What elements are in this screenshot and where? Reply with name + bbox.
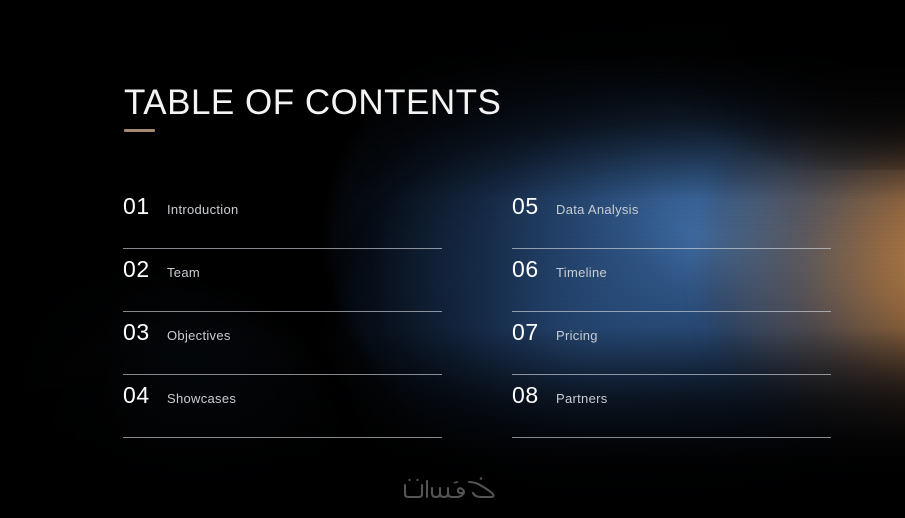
toc-entry-07[interactable]: 07 Pricing xyxy=(512,312,832,375)
toc-number: 02 xyxy=(123,256,163,283)
toc-column-right: 05 Data Analysis 06 Timeline 07 Pric xyxy=(512,186,832,438)
toc-number: 01 xyxy=(123,193,163,220)
toc-label: Showcases xyxy=(167,391,236,406)
toc-number: 05 xyxy=(512,193,552,220)
toc-label: Partners xyxy=(556,391,608,406)
toc-separator xyxy=(123,437,442,438)
toc-number: 03 xyxy=(123,319,163,346)
toc-label: Pricing xyxy=(556,328,598,343)
khamsat-logo-icon xyxy=(397,471,509,505)
toc-number: 06 xyxy=(512,256,552,283)
toc-entry-06[interactable]: 06 Timeline xyxy=(512,249,832,312)
page-title: TABLE OF CONTENTS xyxy=(124,81,501,125)
toc-number: 04 xyxy=(123,382,163,409)
toc-entry-05[interactable]: 05 Data Analysis xyxy=(512,186,832,249)
toc-entry-02[interactable]: 02 Team xyxy=(123,249,443,312)
toc-number: 07 xyxy=(512,319,552,346)
toc-entry-03[interactable]: 03 Objectives xyxy=(123,312,443,375)
presentation-slide: TABLE OF CONTENTS 01 Introduction 02 Tea… xyxy=(0,0,905,518)
watermark xyxy=(0,471,905,510)
toc-number: 08 xyxy=(512,382,552,409)
toc-entry-01[interactable]: 01 Introduction xyxy=(123,186,443,249)
toc-label: Introduction xyxy=(167,202,239,217)
toc-column-left: 01 Introduction 02 Team 03 Objective xyxy=(123,186,443,438)
toc-separator xyxy=(512,437,831,438)
toc-entry-08[interactable]: 08 Partners xyxy=(512,375,832,438)
toc-label: Data Analysis xyxy=(556,202,639,217)
toc-label: Objectives xyxy=(167,328,231,343)
toc-entry-04[interactable]: 04 Showcases xyxy=(123,375,443,438)
title-accent-bar xyxy=(124,129,155,132)
toc-label: Team xyxy=(167,265,200,280)
slide-content: TABLE OF CONTENTS 01 Introduction 02 Tea… xyxy=(0,0,905,518)
toc-label: Timeline xyxy=(556,265,607,280)
